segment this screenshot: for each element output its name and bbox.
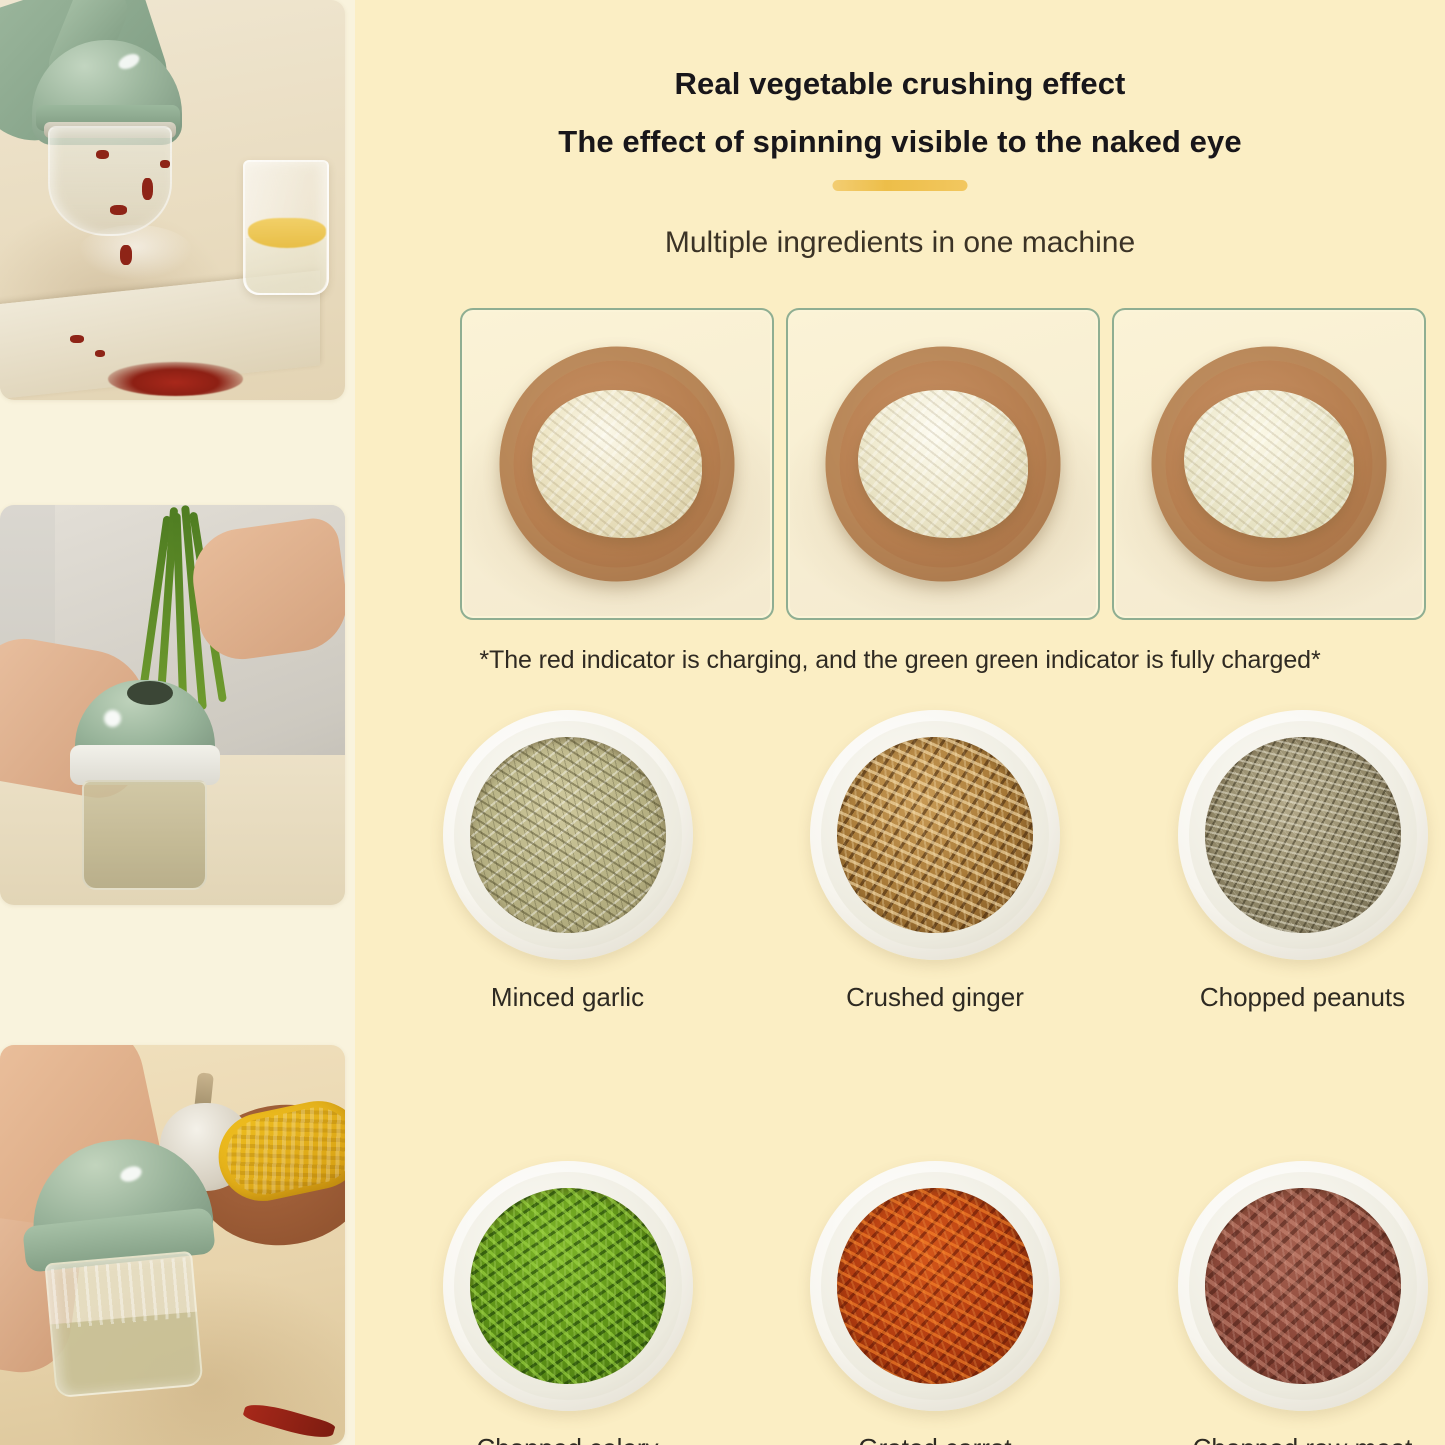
chili-fleck [95, 350, 105, 357]
lemon-slice [248, 218, 326, 248]
headline-line-2: The effect of spinning visible to the na… [355, 126, 1445, 157]
chili-fleck [160, 160, 170, 168]
highlight-glint [104, 710, 121, 727]
food-chopped-celery [470, 1188, 666, 1384]
card-photo-2 [790, 312, 1096, 616]
bowl-label: Chopped peanuts [1200, 982, 1405, 1013]
bowl-cell-grated-carrot: Grated carrot [798, 1161, 1073, 1445]
left-photo-column [0, 0, 355, 1445]
chili-fleck [142, 178, 153, 200]
chopper-jar-with-minced-garlic [44, 1251, 203, 1398]
bowl-cell-crushed-ginger: Crushed ginger [798, 710, 1073, 1013]
charging-indicator-note: *The red indicator is charging, and the … [355, 646, 1445, 675]
bowl-label: Crushed ginger [846, 982, 1024, 1013]
food-chopped-raw-meat [1205, 1188, 1401, 1384]
bowl-cell-chopped-celery: Chopped celery [430, 1161, 705, 1445]
chili-fleck [110, 205, 127, 215]
food-grated-carrot [837, 1188, 1033, 1384]
food-minced-garlic [470, 737, 666, 933]
chopper-jar-with-chopped-chives [82, 780, 207, 890]
chili-fleck [120, 245, 132, 265]
subheadline: Multiple ingredients in one machine [355, 226, 1445, 260]
headline-line-1: Real vegetable crushing effect [355, 68, 1445, 99]
food-crushed-ginger [837, 737, 1033, 933]
photo-chopper-dispensing-chili [0, 0, 345, 400]
chopper-feed-opening [127, 681, 173, 705]
card-photo-1 [464, 312, 770, 616]
bowl [810, 1161, 1060, 1411]
photo-hands-feeding-chives [0, 505, 345, 905]
bowl-row-2: Chopped celery Grated carrot Chopped raw… [430, 1161, 1440, 1445]
bowl-label: Minced garlic [491, 982, 644, 1013]
bowl-cell-minced-garlic: Minced garlic [430, 710, 705, 1013]
chopped-chili-pile [108, 362, 243, 396]
gold-divider-bar [833, 180, 968, 191]
chopper-white-band [70, 745, 220, 785]
bowl-label: Chopped raw meat [1193, 1433, 1413, 1445]
demo-card-2 [786, 308, 1100, 620]
demo-card-row [460, 308, 1426, 620]
bowl-label: Chopped celery [476, 1433, 658, 1445]
demo-card-3 [1112, 308, 1426, 620]
bowl-row-1: Minced garlic Crushed ginger Chopped pea… [430, 710, 1440, 1013]
ingredient-bowls-grid: Minced garlic Crushed ginger Chopped pea… [430, 710, 1440, 1445]
bowl [1178, 710, 1428, 960]
food-chopped-peanuts [1205, 737, 1401, 933]
bowl-label: Grated carrot [858, 1433, 1011, 1445]
bowl [443, 1161, 693, 1411]
photo-hand-pressing-chopper-garlic-corn [0, 1045, 345, 1445]
chopper-jar [48, 126, 172, 236]
bowl [443, 710, 693, 960]
bowl [810, 710, 1060, 960]
chili-fleck [70, 335, 84, 343]
card-photo-3 [1116, 312, 1422, 616]
bowl-cell-chopped-raw-meat: Chopped raw meat [1165, 1161, 1440, 1445]
product-marketing-page: Real vegetable crushing effect The effec… [0, 0, 1445, 1445]
bowl-cell-chopped-peanuts: Chopped peanuts [1165, 710, 1440, 1013]
right-content-panel: Real vegetable crushing effect The effec… [355, 0, 1445, 1445]
chili-fleck [96, 150, 109, 159]
demo-card-1 [460, 308, 774, 620]
bowl [1178, 1161, 1428, 1411]
